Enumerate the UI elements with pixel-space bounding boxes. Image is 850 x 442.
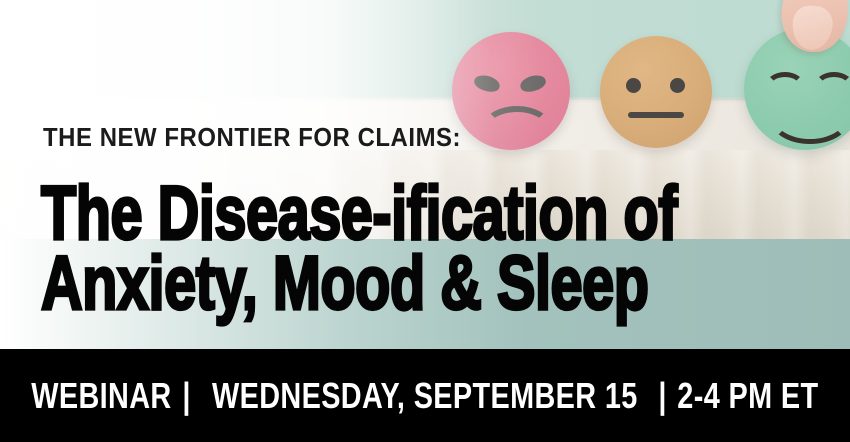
footer-separator-2: | bbox=[654, 374, 672, 416]
page-title: The Disease-ification of Anxiety, Mood &… bbox=[41, 178, 761, 318]
footer-bar: WEBINAR | WEDNESDAY, SEPTEMBER 15 | 2-4 … bbox=[0, 349, 850, 442]
footer-time-label: 2-4 PM ET bbox=[678, 374, 819, 416]
headline-line-2: Anxiety, Mood & Sleep bbox=[41, 248, 711, 322]
footer-separator-1: | bbox=[177, 374, 195, 416]
footer-details: WEBINAR | WEDNESDAY, SEPTEMBER 15 | 2-4 … bbox=[0, 349, 850, 442]
eyebrow-text: THE NEW FRONTIER FOR CLAIMS: bbox=[43, 122, 461, 153]
webinar-promo-banner: THE NEW FRONTIER FOR CLAIMS: The Disease… bbox=[0, 0, 850, 442]
footer-date-label: WEDNESDAY, SEPTEMBER 15 bbox=[212, 374, 638, 416]
footer-format-label: WEBINAR bbox=[31, 374, 171, 416]
